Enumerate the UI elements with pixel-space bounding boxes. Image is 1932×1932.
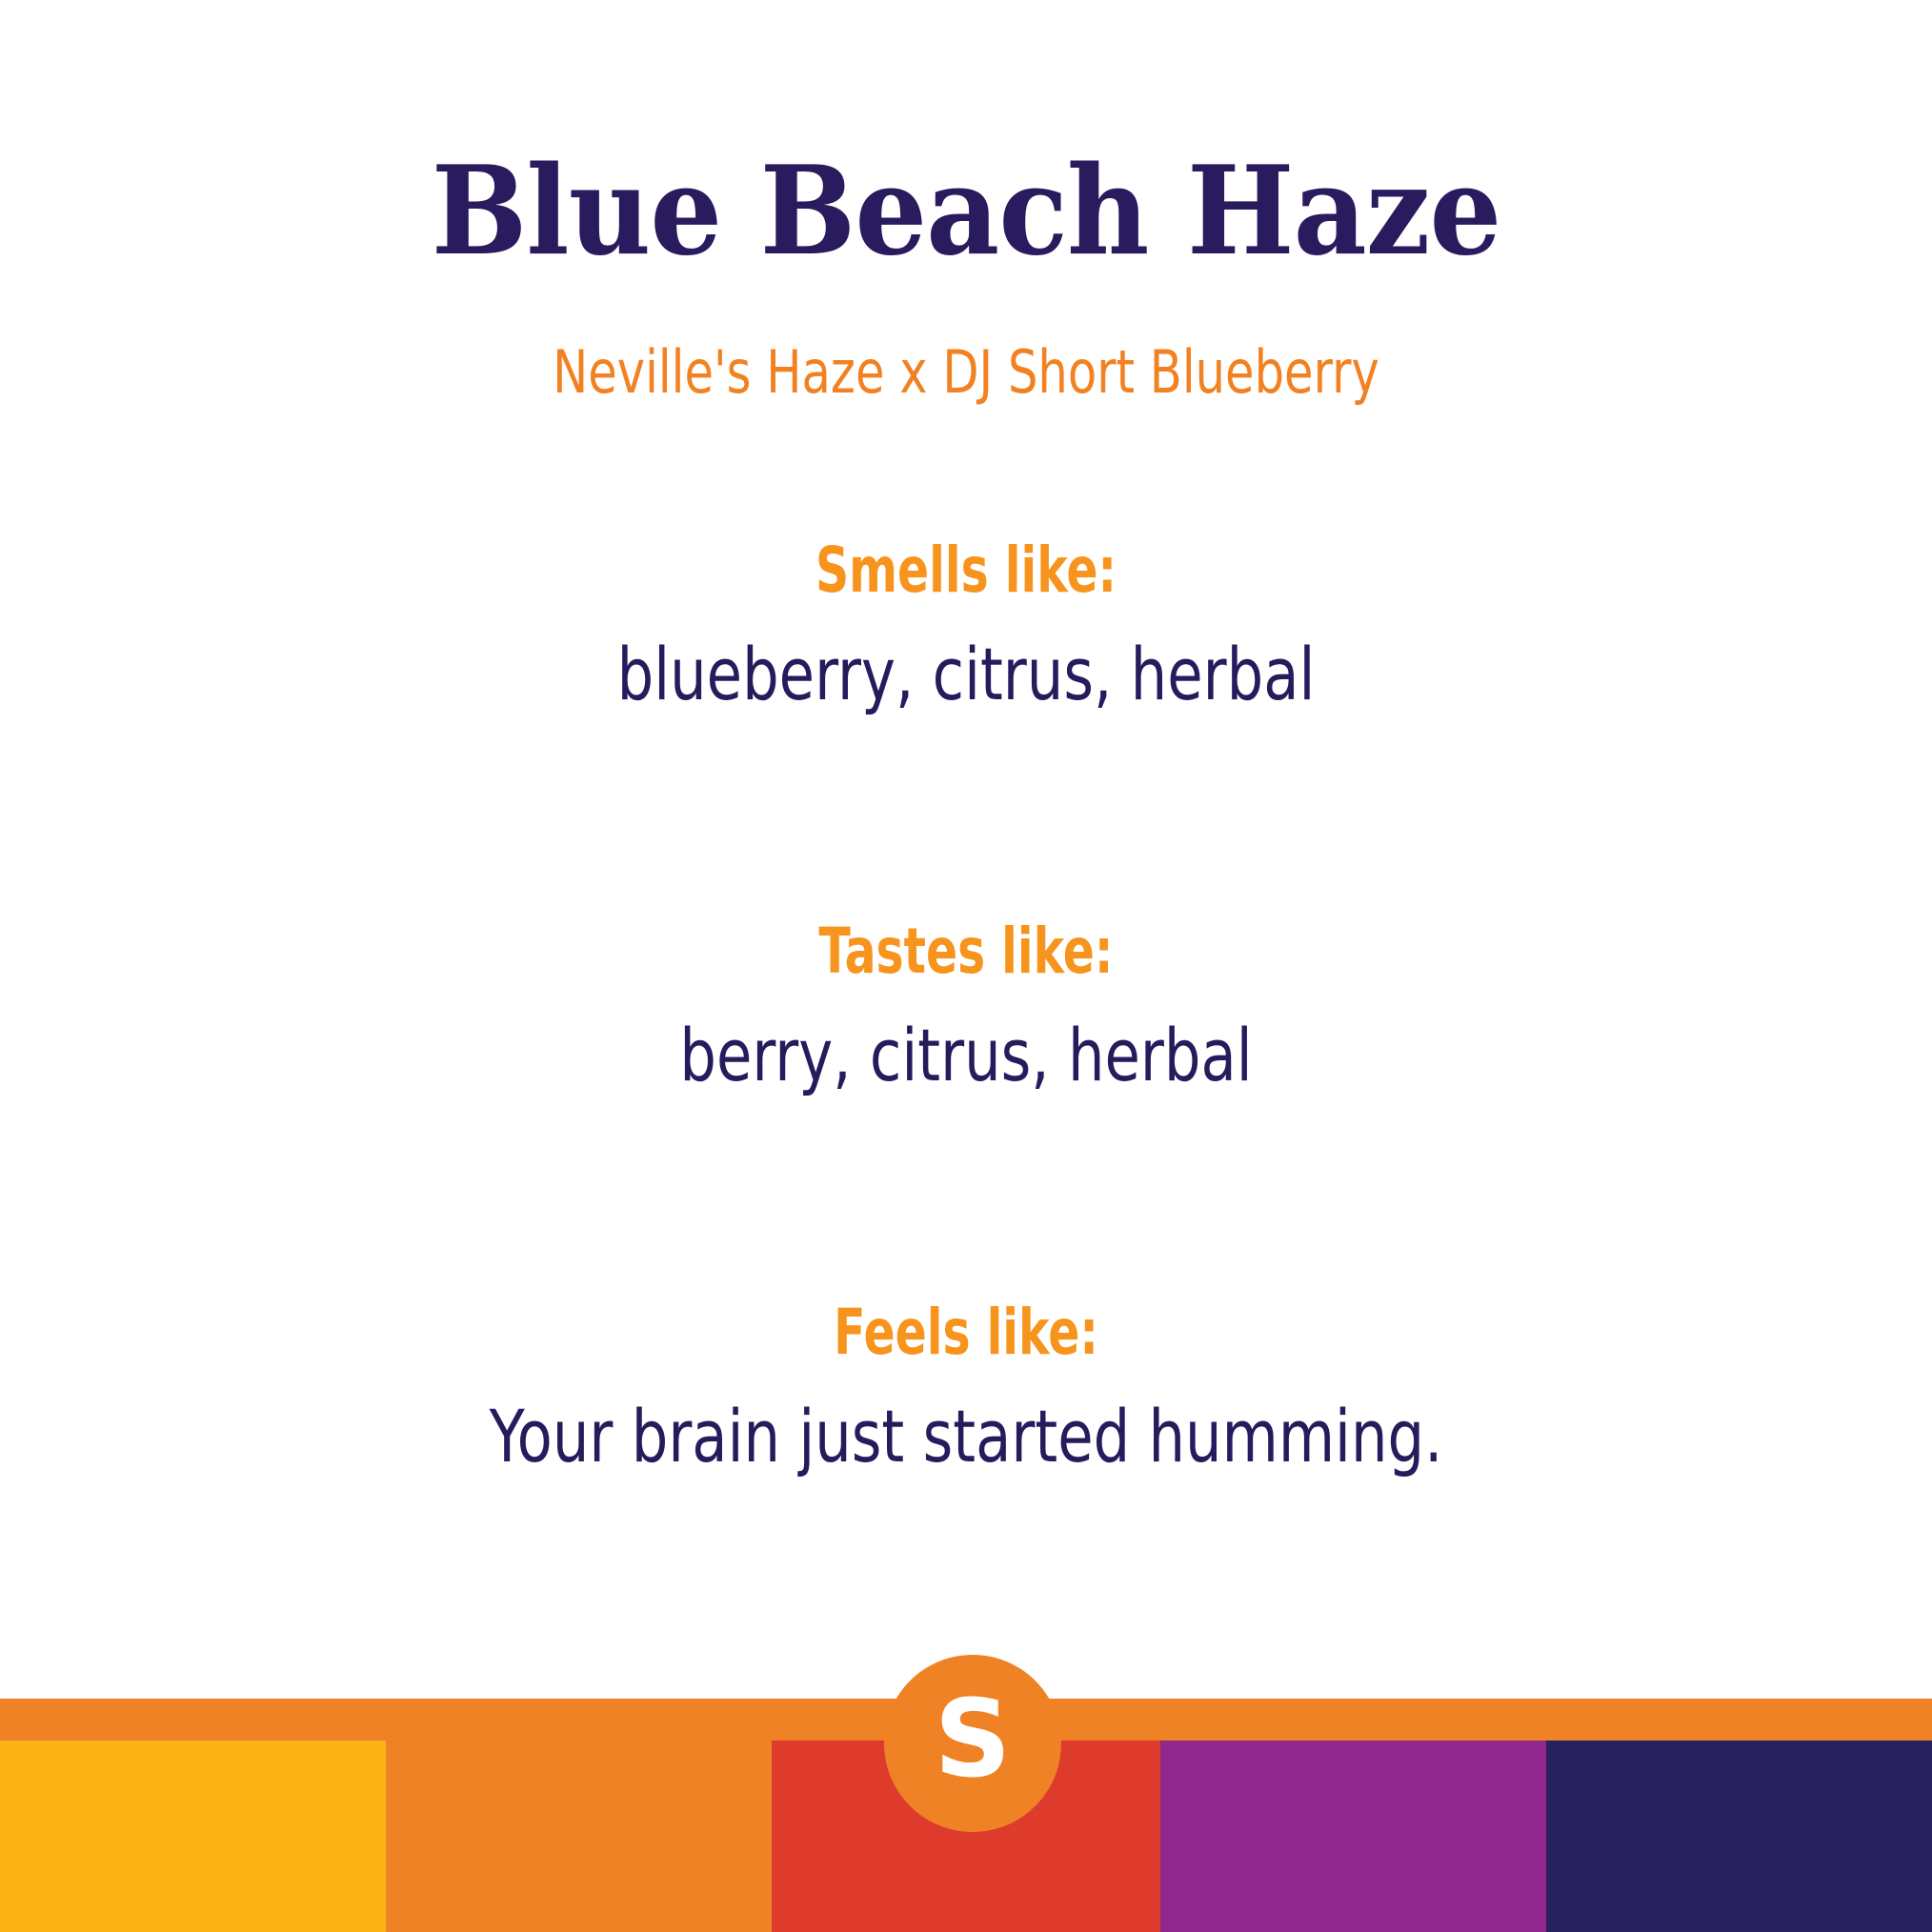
footer-swatch-navy (1546, 1741, 1932, 1932)
section-tastes-like-label: Tastes like: (252, 920, 1681, 983)
footer-swatch-magenta (1160, 1741, 1546, 1932)
brand-badge-icon: S (884, 1655, 1061, 1832)
brand-badge-letter: S (935, 1686, 1012, 1793)
section-smells-like-label: Smells like: (252, 539, 1681, 602)
section-smells-like: Smells like: blueberry, citrus, herbal (0, 539, 1932, 711)
footer-swatch-orange (386, 1741, 772, 1932)
strain-lineage-subtitle: Neville's Haze x DJ Short Blueberry (193, 343, 1739, 402)
footer-swatch-yellow (0, 1741, 386, 1932)
page-title: Blue Beach Haze (68, 151, 1864, 272)
section-smells-like-value: blueberry, citrus, herbal (193, 638, 1739, 711)
section-tastes-like: Tastes like: berry, citrus, herbal (0, 920, 1932, 1092)
section-tastes-like-value: berry, citrus, herbal (193, 1019, 1739, 1092)
section-feels-like: Feels like: Your brain just started humm… (0, 1301, 1932, 1473)
strain-info-card: Blue Beach Haze Neville's Haze x DJ Shor… (0, 0, 1932, 1932)
section-feels-like-label: Feels like: (252, 1301, 1681, 1364)
section-feels-like-value: Your brain just started humming. (193, 1400, 1739, 1473)
